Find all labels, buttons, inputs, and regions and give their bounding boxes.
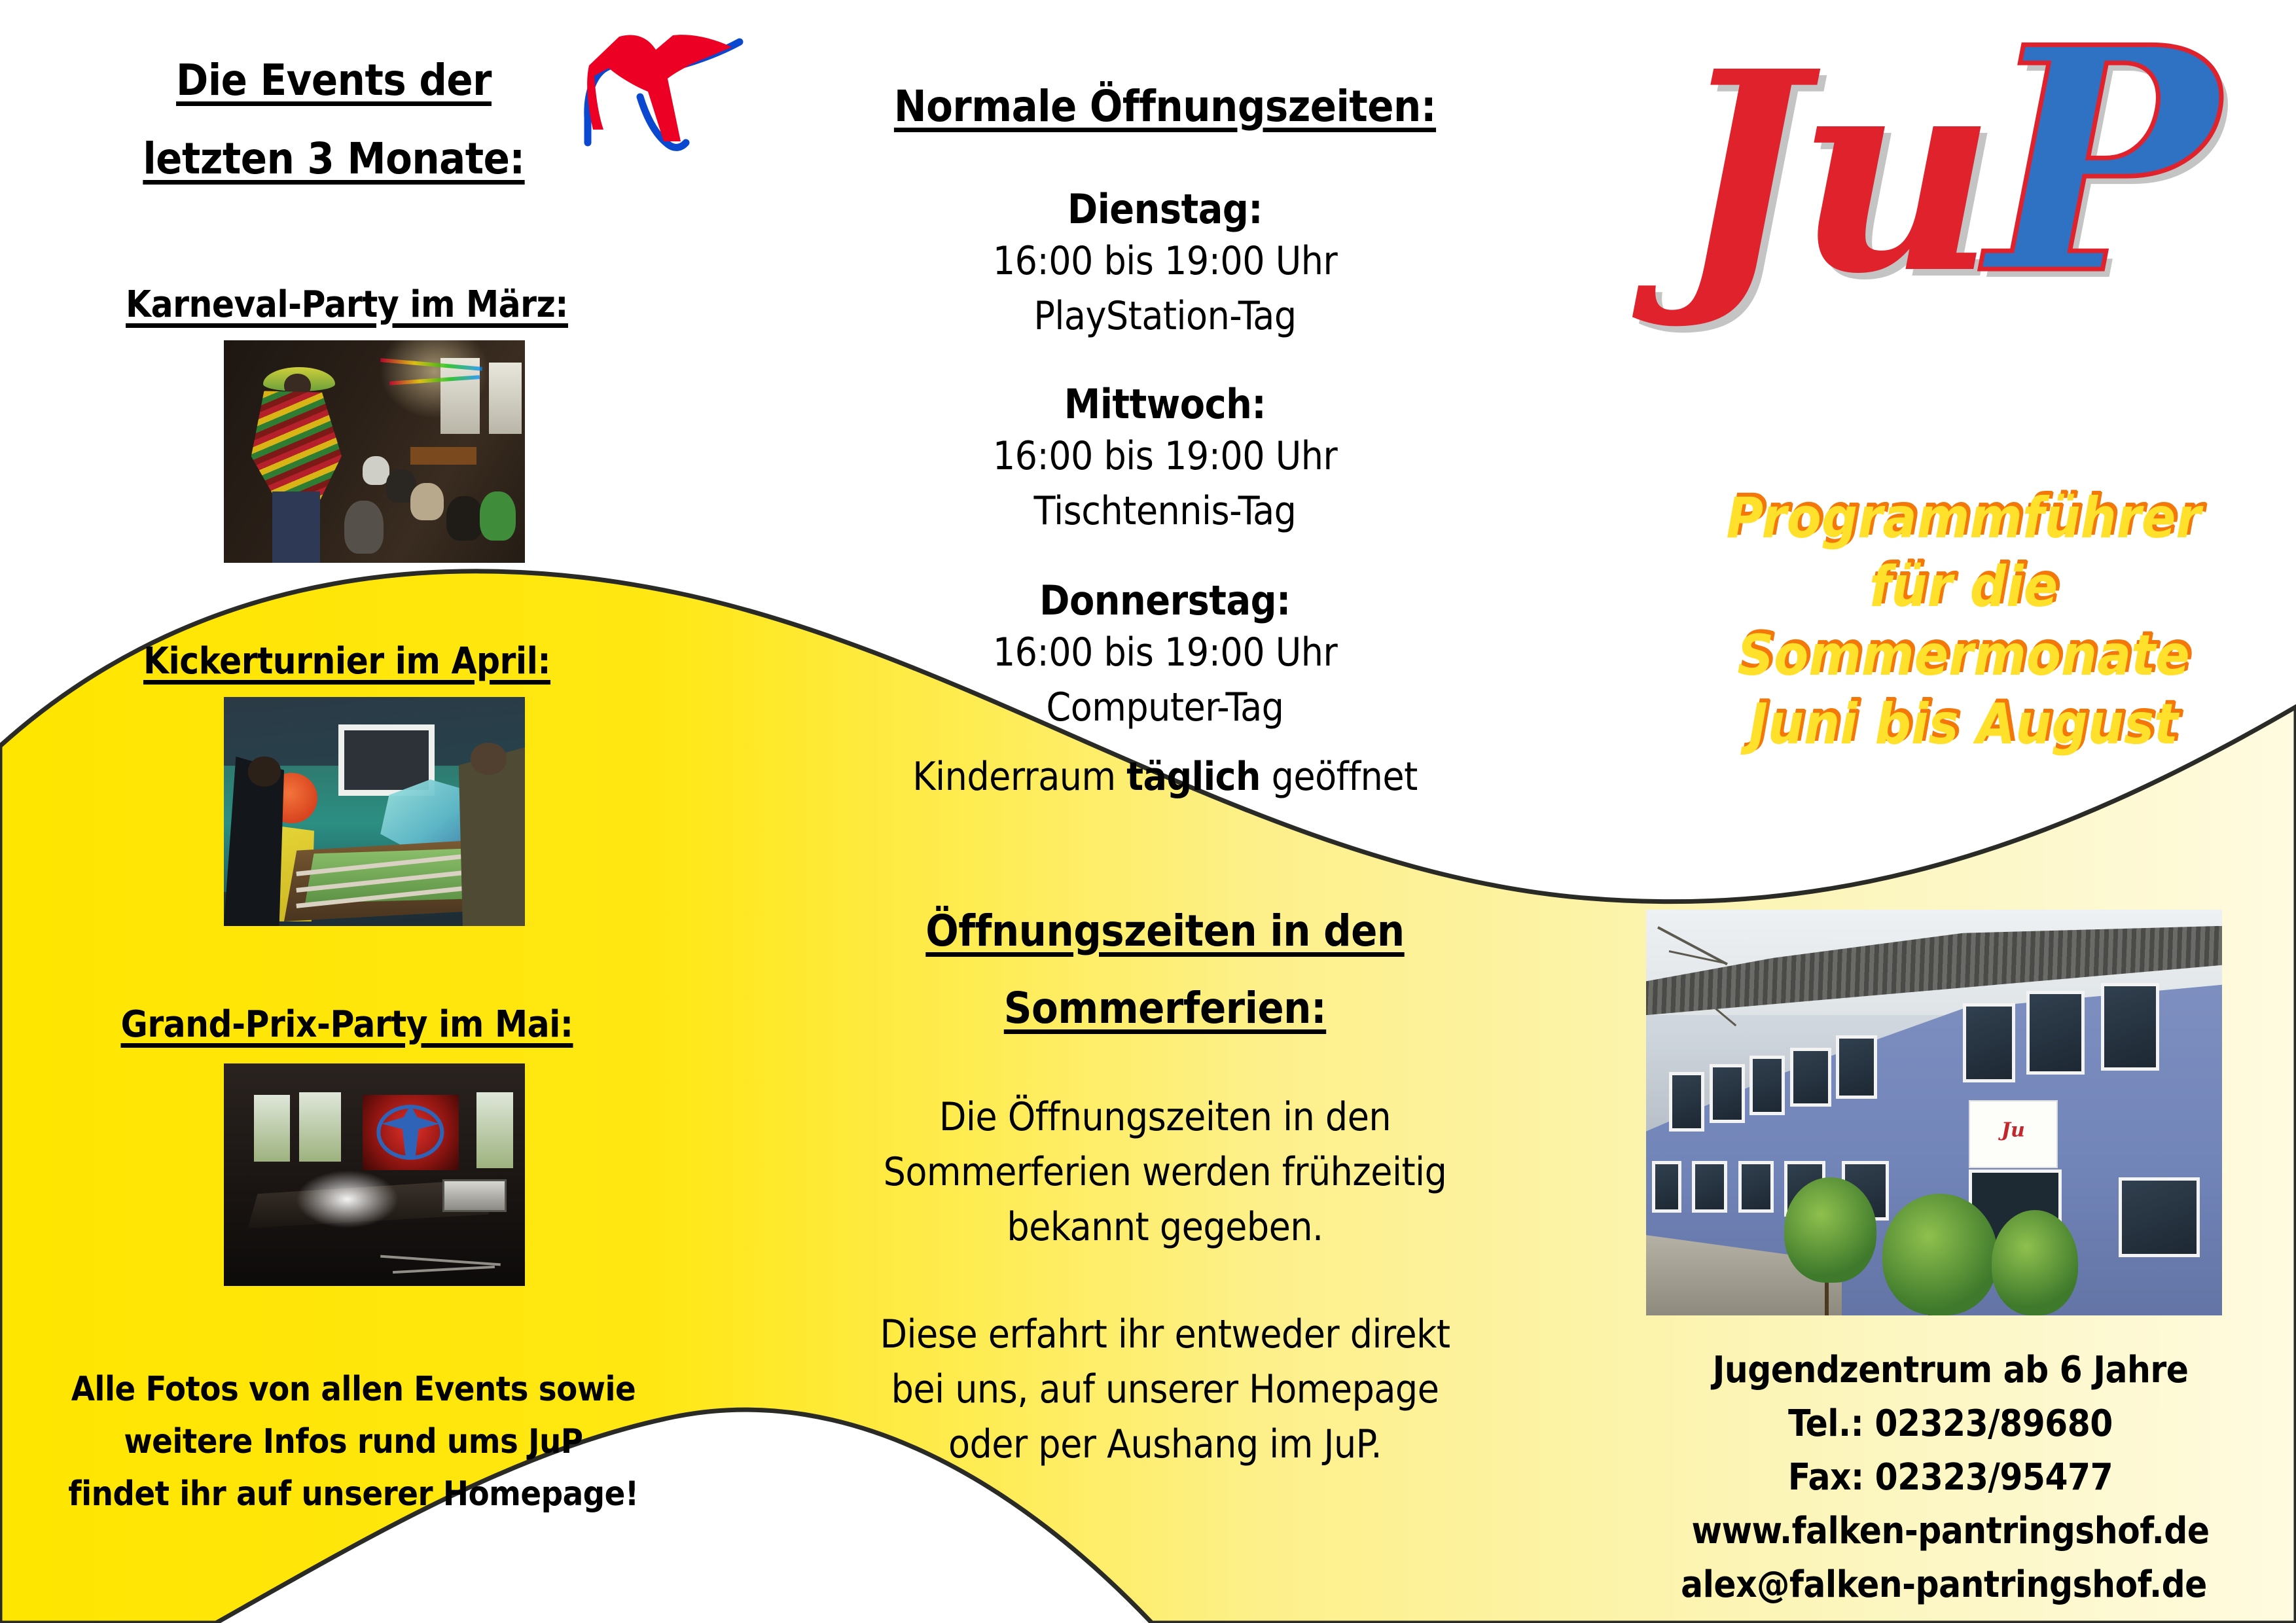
building-photo: Ju: [1646, 910, 2222, 1315]
jup-logo: JuP: [1676, 0, 2251, 412]
wordart-title: Programmführer für die Sommermonate Juni…: [1649, 484, 2278, 759]
events-footnote-line1: Alle Fotos von allen Events sowie: [39, 1368, 668, 1412]
kicker-photo: [224, 697, 525, 926]
contact-line-1: Jugendzentrum ab 6 Jahre: [1623, 1347, 2278, 1395]
summer-p2-line3: oder per Aushang im JuP.: [779, 1419, 1551, 1470]
events-heading-line2: letzten 3 Monate:: [131, 131, 537, 187]
hours-day-1-time: 16:00 bis 19:00 Uhr: [818, 431, 1512, 482]
event-caption-karneval: Karneval-Party im März:: [85, 281, 609, 329]
kinderraum-note-pre: Kinderraum: [912, 754, 1126, 800]
hours-day-2-activity: Computer-Tag: [818, 682, 1512, 733]
hours-day-2-time: 16:00 bis 19:00 Uhr: [818, 627, 1512, 678]
summer-p2-line1: Diese erfahrt ihr entweder direkt: [779, 1309, 1551, 1360]
summer-p2-line2: bei uns, auf unserer Homepage: [779, 1364, 1551, 1415]
jup-logo-p: P: [1987, 0, 2218, 342]
hours-day-1-activity: Tischtennis-Tag: [818, 486, 1512, 537]
wordart-line-4: Juni bis August: [1649, 690, 2278, 759]
events-heading-line1: Die Events der: [131, 52, 537, 109]
kinderraum-note-bold: täglich: [1126, 754, 1261, 800]
contact-line-3: Fax: 02323/95477: [1623, 1454, 2278, 1502]
summer-heading-line1: Öffnungszeiten in den: [818, 903, 1512, 959]
jup-logo-ju: Ju: [1676, 12, 1987, 334]
summer-p1-line1: Die Öffnungszeiten in den: [792, 1092, 1538, 1143]
carnival-photo: [224, 340, 525, 563]
kinderraum-note-post: geöffnet: [1261, 754, 1418, 800]
hours-day-0-activity: PlayStation-Tag: [818, 291, 1512, 342]
flyer-page: Die Events der letzten 3 Monate: Karneva…: [0, 0, 2296, 1623]
building-sign-logo: Ju: [2001, 1119, 2025, 1142]
event-caption-grandprix: Grand-Prix-Party im Mai:: [79, 1001, 615, 1049]
hours-day-0-time: 16:00 bis 19:00 Uhr: [818, 236, 1512, 287]
contact-website[interactable]: www.falken-pantringshof.de: [1610, 1508, 2291, 1556]
wordart-line-3: Sommermonate: [1649, 622, 2278, 690]
summer-p1-line2: Sommerferien werden frühzeitig: [792, 1147, 1538, 1198]
falken-bird-icon: [576, 13, 766, 190]
hours-day-1-name: Mittwoch:: [818, 378, 1512, 431]
events-footnote-line3: findet ihr auf unserer Homepage!: [39, 1472, 668, 1517]
wordart-line-2: für die: [1649, 553, 2278, 622]
hours-heading: Normale Öffnungszeiten:: [818, 79, 1512, 135]
events-footnote-line2: weitere Infos rund ums JuP: [39, 1420, 668, 1465]
building-jup-sign: Ju: [1969, 1100, 2058, 1168]
contact-email[interactable]: alex@falken-pantringshof.de: [1597, 1561, 2291, 1609]
contact-line-2: Tel.: 02323/89680: [1623, 1400, 2278, 1448]
wordart-line-1: Programmführer: [1649, 484, 2278, 553]
hours-day-0-name: Dienstag:: [818, 183, 1512, 236]
summer-p1-line3: bekannt gegeben.: [792, 1202, 1538, 1253]
summer-heading-line2: Sommerferien:: [818, 980, 1512, 1037]
hours-day-2-name: Donnerstag:: [818, 575, 1512, 628]
event-caption-kicker: Kickerturnier im April:: [85, 638, 609, 686]
grandprix-photo: [224, 1063, 525, 1286]
kinderraum-note: Kinderraum täglich geöffnet: [792, 751, 1538, 802]
